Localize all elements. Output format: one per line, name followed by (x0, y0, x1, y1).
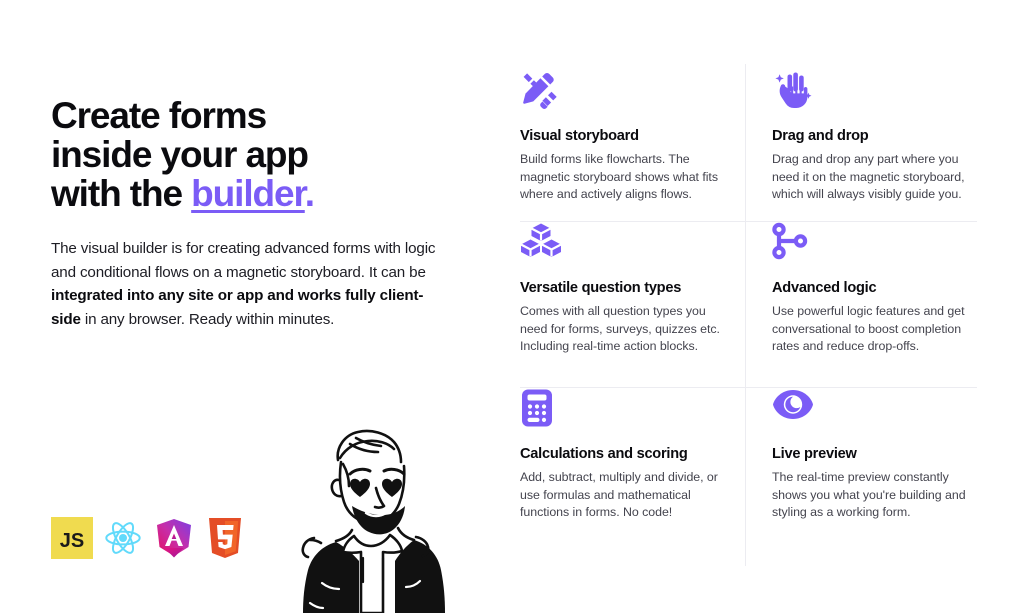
feature-card-live-preview: Live preview The real-time preview const… (745, 388, 976, 560)
pencil-ruler-icon (520, 70, 723, 116)
bearded-man-heart-eyes-illustration (280, 418, 450, 613)
feature-title: Calculations and scoring (520, 446, 723, 462)
stacked-cubes-icon (520, 222, 723, 268)
svg-text:JS: JS (60, 530, 84, 552)
hero-text-block: Create forms inside your app with the bu… (51, 96, 481, 331)
headline-line-3-prefix: with the (51, 173, 191, 214)
feature-card-calculations-and-scoring: Calculations and scoring Add, subtract, … (520, 388, 745, 560)
feature-card-visual-storyboard: Visual storyboard Build forms like flowc… (520, 70, 745, 222)
feature-title: Visual storyboard (520, 128, 723, 144)
feature-grid: Visual storyboard Build forms like flowc… (520, 70, 976, 560)
headline-accent-dot: . (305, 173, 314, 214)
javascript-logo: JS (51, 516, 93, 560)
hero-body-paragraph: The visual builder is for creating advan… (51, 237, 451, 331)
html5-logo (204, 516, 246, 560)
feature-title: Versatile question types (520, 280, 723, 296)
react-logo (102, 516, 144, 560)
tech-logo-strip: JS (51, 516, 246, 560)
feature-title: Advanced logic (772, 280, 968, 296)
feature-card-advanced-logic: Advanced logic Use powerful logic featur… (745, 222, 976, 388)
branch-logic-icon (772, 222, 968, 268)
hand-sparkle-icon (772, 70, 968, 116)
feature-card-drag-and-drop: Drag and drop Drag and drop any part whe… (745, 70, 976, 222)
hero-body-part-1: The visual builder is for creating advan… (51, 240, 435, 281)
feature-description: Build forms like flowcharts. The magneti… (520, 151, 723, 204)
headline-accent-word: builder (191, 173, 305, 214)
hero-body-part-2: in any browser. Ready within minutes. (81, 311, 334, 328)
page-title: Create forms inside your app with the bu… (51, 96, 481, 213)
eye-icon (772, 388, 968, 434)
feature-description: Add, subtract, multiply and divide, or u… (520, 469, 723, 522)
feature-description: Use powerful logic features and get conv… (772, 303, 968, 356)
feature-title: Live preview (772, 446, 968, 462)
feature-description: Drag and drop any part where you need it… (772, 151, 968, 204)
headline-line-2: inside your app (51, 135, 481, 174)
headline-line-3: with the builder. (51, 174, 481, 213)
feature-description: Comes with all question types you need f… (520, 303, 723, 356)
feature-title: Drag and drop (772, 128, 968, 144)
angular-logo (153, 516, 195, 560)
feature-card-versatile-question-types: Versatile question types Comes with all … (520, 222, 745, 388)
headline-line-1: Create forms (51, 96, 481, 135)
calculator-icon (520, 388, 723, 434)
feature-description: The real-time preview constantly shows y… (772, 469, 968, 522)
landing-page-features-section: Create forms inside your app with the bu… (0, 0, 1024, 613)
